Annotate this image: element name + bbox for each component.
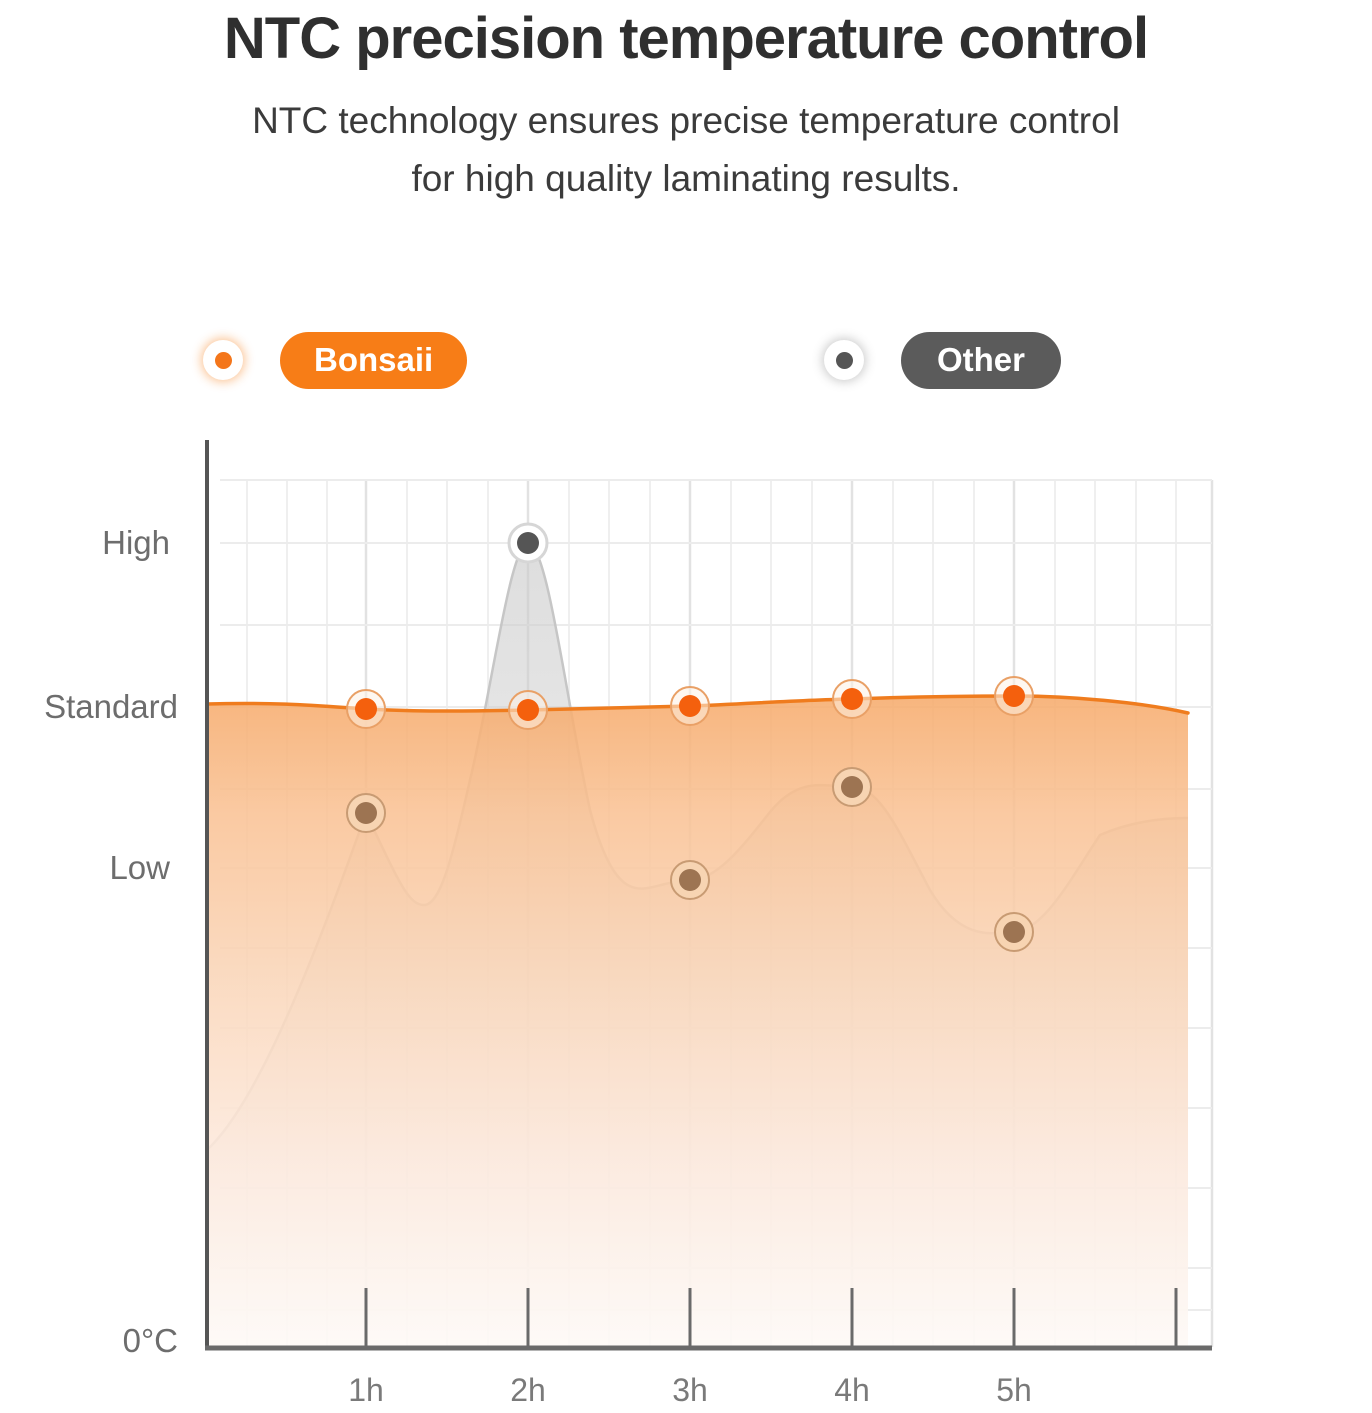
data-point-other-3h[interactable]	[671, 861, 709, 899]
temperature-chart: High Standard Low 0°C 1h 2h 3h 4h 5h	[0, 0, 1372, 1413]
data-point-bonsaii-2h[interactable]	[509, 691, 547, 729]
data-point-other-1h[interactable]	[347, 794, 385, 832]
data-point-other-4h[interactable]	[833, 768, 871, 806]
data-point-bonsaii-4h[interactable]	[833, 680, 871, 718]
data-point-other-2h[interactable]	[509, 524, 547, 562]
chart-plot-area	[0, 0, 1372, 1413]
data-point-other-5h[interactable]	[995, 913, 1033, 951]
data-point-bonsaii-1h[interactable]	[347, 690, 385, 728]
series-bonsaii-area	[207, 696, 1188, 1348]
series-bonsaii	[207, 696, 1188, 1348]
data-point-bonsaii-3h[interactable]	[671, 687, 709, 725]
data-point-bonsaii-5h[interactable]	[995, 677, 1033, 715]
